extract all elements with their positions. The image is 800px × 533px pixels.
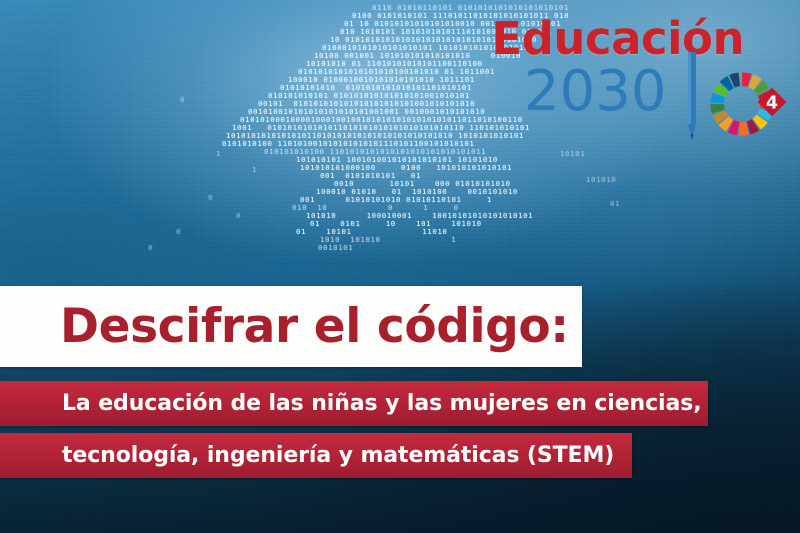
binary-code-row: 10101010 01 11010101010101100110100 (306, 60, 483, 68)
binary-code-row: 001 01010101010 01010110101 1 (300, 196, 492, 204)
binary-code-row: 1010 101010 1 (320, 236, 456, 244)
logo-word-educacion: Educación (491, 16, 744, 61)
binary-code-row: 101010 (586, 176, 616, 184)
binary-code-row: 010 10 0 1 0 (292, 204, 459, 212)
binary-code-row: 10101 (560, 150, 585, 158)
binary-code-row: 101010101 100101001010101010101 10101010 (296, 156, 498, 164)
binary-code-row: 0101010100 11010100101010101010111010110… (222, 140, 474, 148)
binary-code-row: 101010101000100 0100 101010101010101 (300, 164, 512, 172)
binary-code-row: 01 (610, 200, 620, 208)
binary-code-row: 01 0101 10 101 101010 (310, 220, 482, 228)
binary-code-row: 1001 01010101010101101010101010101010101… (232, 124, 530, 132)
binary-code-row: 010101010100 110101010101010101010101010… (264, 148, 486, 156)
binary-code-row: 0 (176, 228, 181, 236)
binary-code-row: 01 10101 11010 (296, 228, 448, 236)
binary-code-row: 100010 01010 01 1010100 0010101010 (316, 188, 518, 196)
education-2030-logo: Educación 2030 (516, 16, 778, 134)
sdg-goal-number: 4 (766, 93, 778, 113)
logo-word-2030: 2030 (524, 64, 667, 120)
binary-code-row: 0101010001000010001001001010101010101010… (240, 116, 523, 124)
pencil-icon (684, 52, 700, 144)
binary-code-row: 010101010101 010101010101010101001010101 (268, 92, 470, 100)
subtitle-line1: La educación de las niñas y las mujeres … (62, 391, 702, 417)
binary-code-row: 101010 100010001 10010101010101010101 (306, 212, 533, 220)
binary-code-row: 1010101010101010110101010101010101010101… (226, 132, 524, 140)
title-band: Descifrar el código: (0, 286, 582, 367)
page-title: Descifrar el código: (60, 301, 569, 353)
binary-code-row: 100010 0100010010101010101010 1011101 (288, 76, 475, 84)
subtitle-band-line1: La educación de las niñas y las mujeres … (0, 381, 708, 426)
binary-code-row: 00101 0101010101010101010101010010101010… (258, 100, 475, 108)
binary-code-row: 1 (252, 166, 257, 174)
binary-code-row: 0 (180, 96, 185, 104)
binary-code-row: 0 (148, 244, 153, 252)
binary-code-row: 01010101010 0101010101010101101010101 (280, 84, 472, 92)
binary-code-row: 0010101 (318, 244, 353, 252)
binary-code-row: 0010 10101 000 01010101010 (334, 180, 511, 188)
binary-code-row: 0110 01010110101 0101010101010101010101 (372, 4, 569, 12)
binary-code-row: 0 (236, 212, 241, 220)
binary-code-row: 001010010101010101010101001001 001000101… (248, 108, 485, 116)
binary-code-row: 1 (216, 150, 221, 158)
sdg-goal-4-badge: 4 (756, 86, 788, 118)
subtitle-line2: tecnología, ingeniería y matemáticas (ST… (62, 443, 614, 469)
subtitle-band-line2: tecnología, ingeniería y matemáticas (ST… (0, 433, 632, 478)
binary-code-row: 0 (208, 194, 213, 202)
binary-code-row: 10100 001001 101010101010101010 010010 (314, 52, 521, 60)
binary-code-row: 001 0101010101 01 (320, 172, 421, 180)
poster-container: 0110 01010110101 01010101010101010101010… (0, 0, 800, 533)
binary-code-row: 0101010101010101010100101010 01 1011001 (298, 68, 495, 76)
